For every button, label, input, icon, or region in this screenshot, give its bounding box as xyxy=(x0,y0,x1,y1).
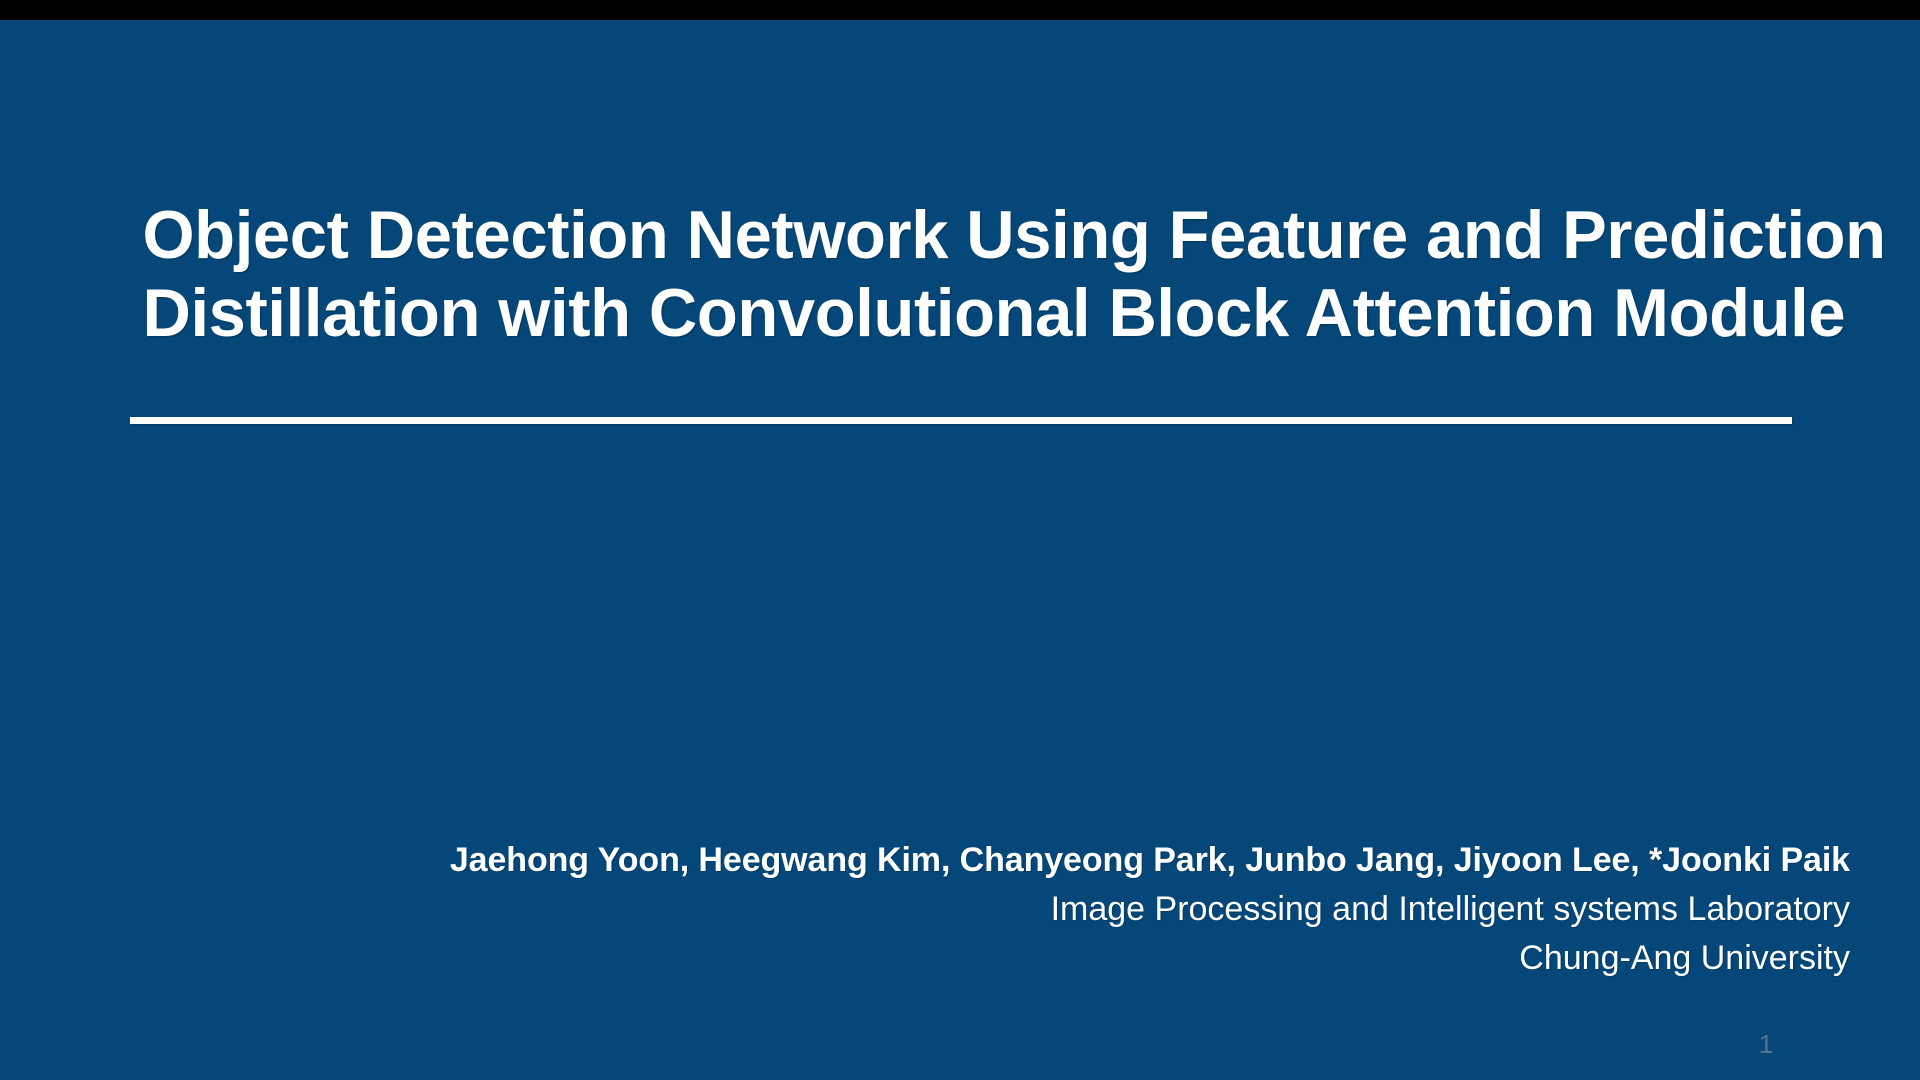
title-divider-rule xyxy=(130,417,1792,424)
author-list: Jaehong Yoon, Heegwang Kim, Chanyeong Pa… xyxy=(450,836,1850,885)
author-affiliation-block: Jaehong Yoon, Heegwang Kim, Chanyeong Pa… xyxy=(450,836,1850,983)
affiliation-university: Chung-Ang University xyxy=(450,934,1850,983)
slide-number: 1 xyxy=(1746,1028,1786,1060)
affiliation-laboratory: Image Processing and Intelligent systems… xyxy=(450,885,1850,934)
letterbox-bar-top xyxy=(0,0,1920,20)
title-slide: Object Detection Network Using Feature a… xyxy=(0,0,1920,1080)
page-title-line-1: Object Detection Network Using Feature a… xyxy=(142,196,1779,274)
page-title: Object Detection Network Using Feature a… xyxy=(130,196,1792,352)
page-title-line-2: Distillation with Convolutional Block At… xyxy=(142,274,1779,352)
